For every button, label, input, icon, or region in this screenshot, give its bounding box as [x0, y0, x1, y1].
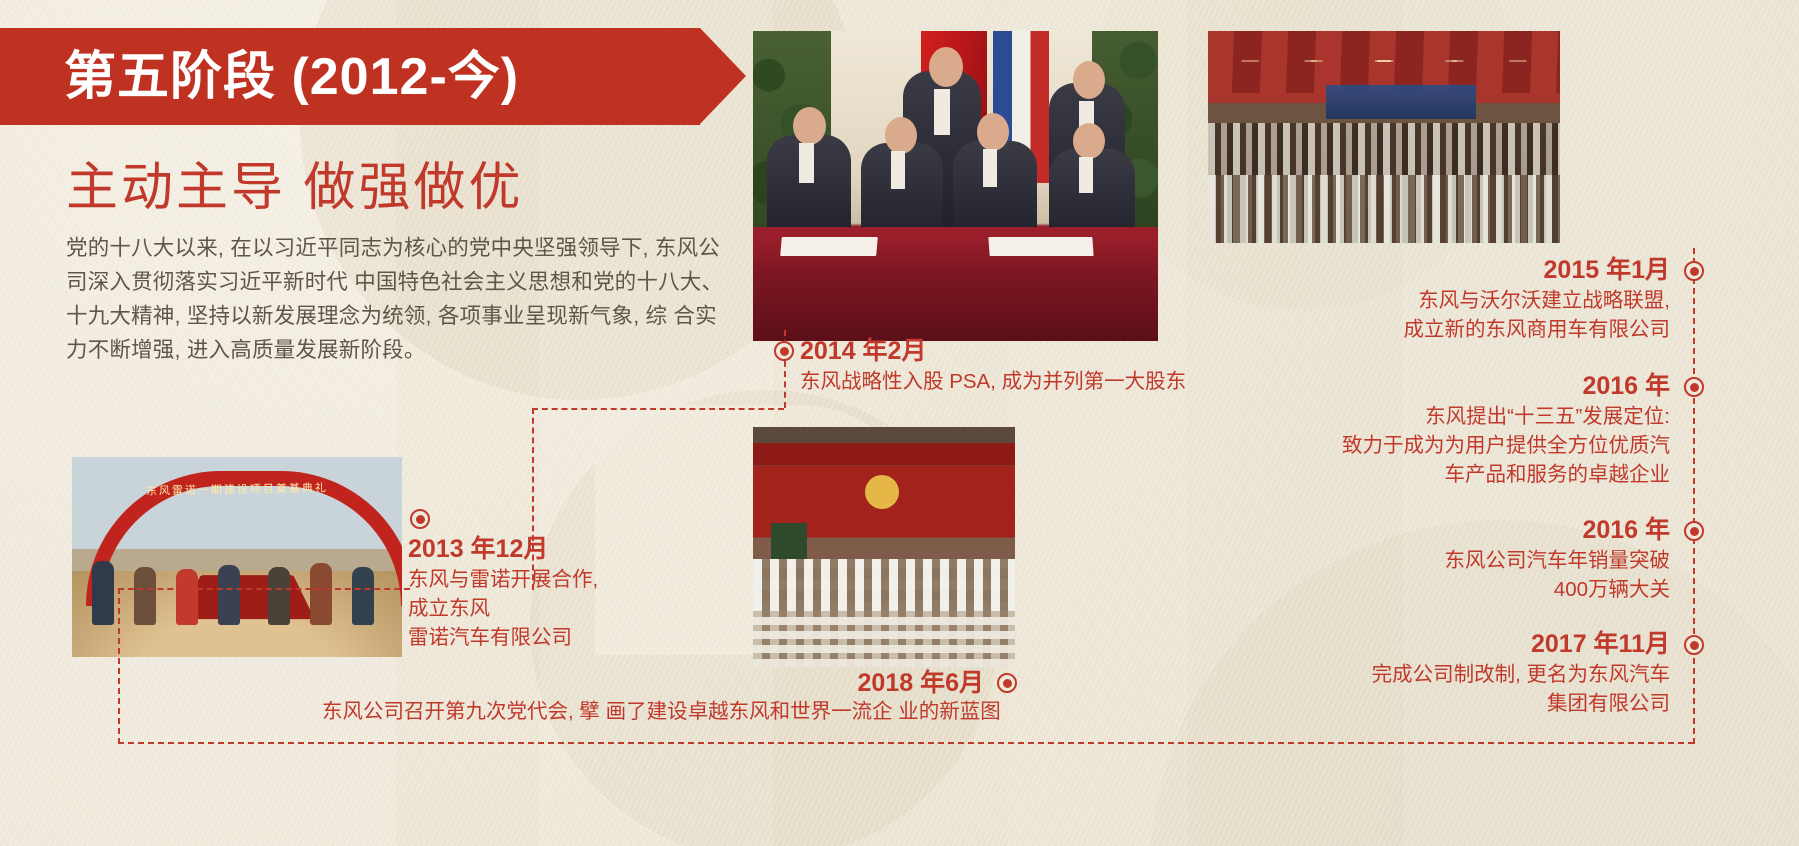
arch-banner-text: 东风雷诺一期建设项目奠基典礼	[110, 479, 364, 509]
timeline-line-to-2013	[118, 588, 410, 590]
marker-2017-11[interactable]	[1684, 635, 1704, 655]
event-desc-line-1: 东风与沃尔沃建立战略联盟,	[1180, 286, 1670, 315]
event-2013-12: 2013 年12月 东风与雷诺开展合作, 成立东风 雷诺汽车有限公司	[408, 534, 828, 652]
marker-2016-sales[interactable]	[1684, 521, 1704, 541]
timeline-line-left-vertical	[118, 588, 120, 744]
stage-banner: 第五阶段 (2012-今)	[0, 28, 700, 125]
event-date: 2016 年	[1180, 515, 1670, 546]
timeline-line-bottom	[118, 742, 1694, 744]
event-desc-line-1: 东风提出“十三五”发展定位:	[1150, 402, 1670, 431]
page-subtitle: 主动主导 做强做优	[66, 145, 523, 220]
event-2016-135: 2016 年 东风提出“十三五”发展定位: 致力于成为为用户提供全方位优质汽 车…	[1150, 371, 1670, 489]
event-date: 2018 年6月	[500, 668, 984, 699]
event-desc-line-1: 完成公司制改制, 更名为东风汽车	[1150, 660, 1670, 689]
photo-conference-hall	[1208, 31, 1560, 243]
timeline-spine-right	[1693, 248, 1695, 744]
event-desc-line-2: 400万辆大关	[1180, 575, 1670, 604]
event-date: 2015 年1月	[1180, 255, 1670, 286]
timeline-line-top-center	[532, 408, 784, 410]
marker-2015-01[interactable]	[1684, 261, 1704, 281]
banner-title: 第五阶段 (2012-今)	[64, 51, 519, 103]
marker-2014-02[interactable]	[774, 341, 794, 361]
intro-paragraph: 党的十八大以来, 在以习近平同志为核心的党中央坚强领导下, 东风公司深入贯彻落实…	[66, 231, 726, 367]
marker-2018-06[interactable]	[997, 673, 1017, 693]
event-desc-line-1: 东风与雷诺开展合作,	[408, 565, 828, 594]
photo-groundbreaking-ceremony: 东风雷诺一期建设项目奠基典礼	[72, 457, 402, 657]
event-date: 2014 年2月	[800, 336, 1220, 367]
event-desc-line-2: 致力于成为为用户提供全方位优质汽	[1150, 431, 1670, 460]
photo-signing-ceremony	[753, 31, 1158, 341]
event-desc: 东风公司召开第九次党代会, 擘 画了建设卓越东风和世界一流企 业的新蓝图	[322, 697, 1422, 726]
marker-2016-135[interactable]	[1684, 377, 1704, 397]
event-date: 2017 年11月	[1150, 629, 1670, 660]
event-2018-06: 2018 年6月	[500, 668, 984, 699]
event-2018-06-desc: 东风公司召开第九次党代会, 擘 画了建设卓越东风和世界一流企 业的新蓝图	[322, 697, 1422, 726]
event-date: 2013 年12月	[408, 534, 828, 565]
event-desc-line-2: 成立东风	[408, 594, 828, 623]
event-date: 2016 年	[1150, 371, 1670, 402]
event-desc-line-2: 成立新的东风商用车有限公司	[1180, 315, 1670, 344]
marker-2013-12[interactable]	[410, 509, 430, 529]
event-2016-sales: 2016 年 东风公司汽车年销量突破 400万辆大关	[1180, 515, 1670, 604]
event-desc-line-1: 东风公司汽车年销量突破	[1180, 546, 1670, 575]
event-desc-line-3: 车产品和服务的卓越企业	[1150, 460, 1670, 489]
infographic-canvas: 第五阶段 (2012-今) 主动主导 做强做优 党的十八大以来, 在以习近平同志…	[0, 0, 1799, 846]
event-2015-01: 2015 年1月 东风与沃尔沃建立战略联盟, 成立新的东风商用车有限公司	[1180, 255, 1670, 344]
event-desc-line-3: 雷诺汽车有限公司	[408, 623, 828, 652]
